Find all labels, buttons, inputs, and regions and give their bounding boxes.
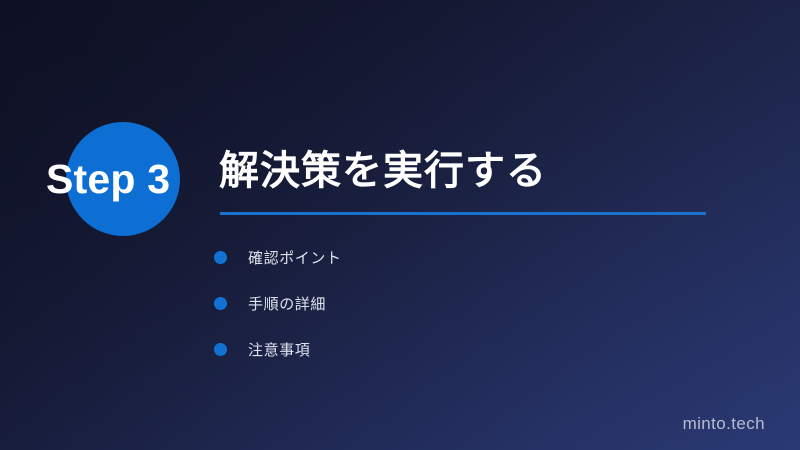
bullet-dot-icon	[214, 251, 227, 264]
bullet-dot-icon	[214, 297, 227, 310]
watermark-branding: minto.tech	[683, 414, 765, 434]
bullet-item-label: 手順の詳細	[248, 293, 326, 314]
bullet-item-label: 注意事項	[248, 339, 310, 360]
bullet-dot-icon	[214, 343, 227, 356]
slide-title: 解決策を実行する	[219, 146, 547, 196]
list-item: 注意事項	[214, 326, 342, 372]
bullet-list: 確認ポイント 手順の詳細 注意事項	[214, 234, 342, 372]
step-badge-label: Step 3	[46, 155, 216, 203]
list-item: 手順の詳細	[214, 280, 342, 326]
bullet-item-label: 確認ポイント	[248, 247, 342, 268]
presentation-slide: Step 3 解決策を実行する 確認ポイント 手順の詳細 注意事項 minto.…	[0, 0, 800, 450]
list-item: 確認ポイント	[214, 234, 342, 280]
title-divider	[220, 212, 706, 215]
